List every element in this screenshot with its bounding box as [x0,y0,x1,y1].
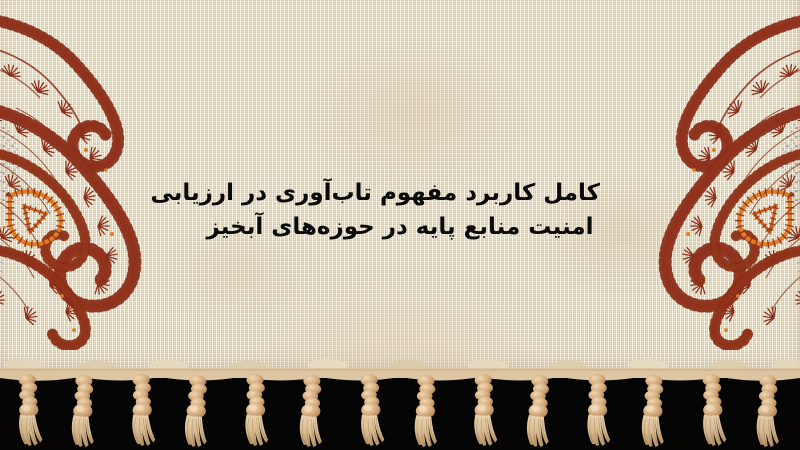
title-card-stage: کامل کاربرد مفهوم تاب‌آوری در ارزیابی ام… [0,0,800,450]
title-block: کامل کاربرد مفهوم تاب‌آوری در ارزیابی ام… [200,176,600,244]
title-line-1: کامل کاربرد مفهوم تاب‌آوری در ارزیابی [200,176,600,210]
title-line-2: امنیت منابع پایه در حوزه‌های آبخیز [200,210,600,244]
